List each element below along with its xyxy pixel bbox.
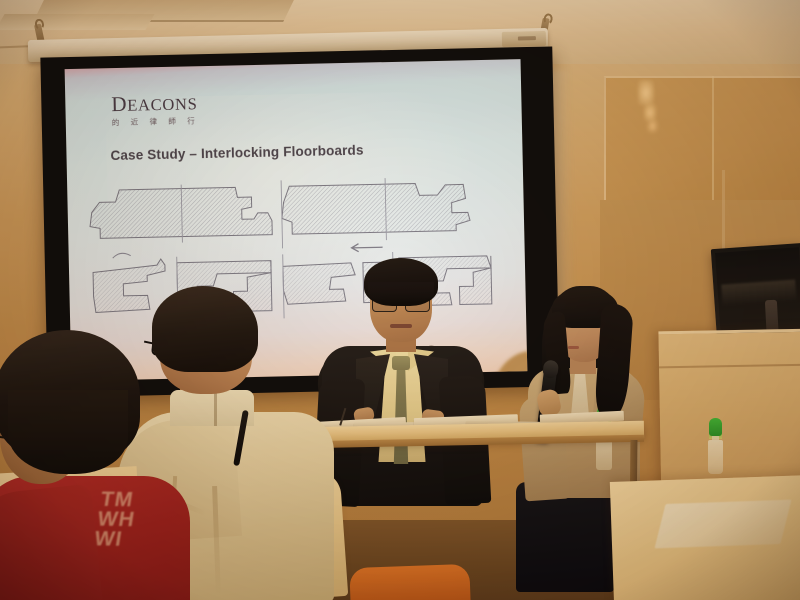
hair [364, 258, 438, 306]
paper-sheet-foreground [655, 500, 792, 549]
orange-chair [349, 564, 470, 600]
hair-lower [8, 390, 128, 474]
slide-title: Case Study – Interlocking Floorboards [110, 143, 363, 164]
board-detail-curve [113, 253, 131, 258]
collar-split [214, 390, 217, 426]
light-reflection [648, 120, 657, 132]
wall-whiteboard [604, 76, 800, 210]
mouth [390, 324, 412, 328]
logo-chinese-text: 的 近 律 師 行 [112, 115, 200, 128]
graphic-line-3: WI [93, 529, 173, 550]
bottle-body [708, 440, 723, 474]
light-reflection [638, 80, 654, 105]
direction-arrow [351, 243, 382, 252]
light-reflection [644, 104, 656, 121]
presentation-room-photo: DEACONS 的 近 律 師 行 Case Study – Interlock… [0, 0, 800, 600]
logo-initial: D [111, 92, 127, 116]
mouth [568, 346, 579, 349]
bottle-cap [709, 418, 722, 436]
whiteboard-edge [712, 76, 714, 208]
logo-word-rest: EACONS [127, 94, 198, 115]
tie-knot [392, 356, 410, 370]
housing-logo [518, 36, 536, 40]
deacons-logo: DEACONS 的 近 律 師 行 [111, 92, 199, 128]
ceiling-panel-secondary [0, 14, 155, 30]
water-bottle-foreground [706, 418, 725, 474]
audience-red-shirt: TM WH WI [0, 330, 208, 600]
board-top-right [281, 182, 470, 234]
presenter-center [318, 258, 486, 508]
logo-wordmark: DEACONS [111, 92, 199, 115]
cabinet-seam [659, 364, 800, 369]
board-top-left [89, 187, 272, 239]
